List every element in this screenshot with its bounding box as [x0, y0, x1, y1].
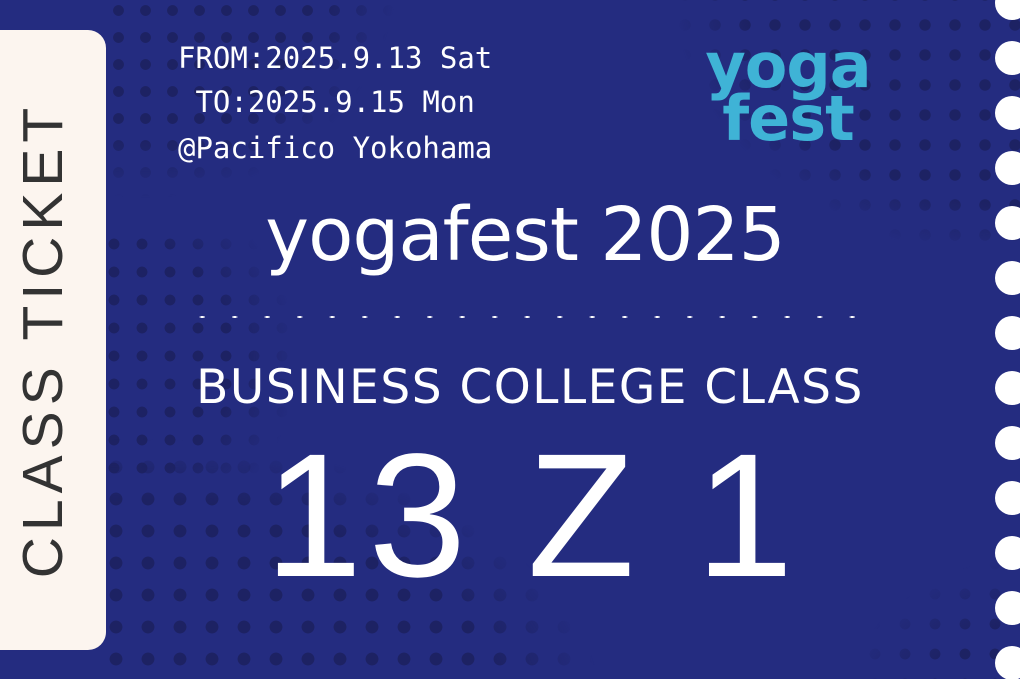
perforation-notch	[995, 646, 1020, 679]
perforation-notch	[995, 536, 1020, 570]
event-date-to: TO:2025.9.15 Mon	[178, 80, 492, 124]
perforation-notch	[995, 426, 1020, 460]
perforation-notch	[995, 371, 1020, 405]
perforation-notch	[995, 0, 1020, 20]
perforation-notch	[995, 591, 1020, 625]
event-venue: @Pacifico Yokohama	[178, 126, 492, 170]
perforation-notch	[995, 151, 1020, 185]
ticket-header: FROM:2025.9.13 Sat TO:2025.9.15 Mon @Pac…	[106, 36, 1004, 186]
event-title: yogafest 2025	[106, 192, 944, 278]
perforation-notch	[995, 96, 1020, 130]
event-details: FROM:2025.9.13 Sat TO:2025.9.15 Mon @Pac…	[178, 36, 492, 170]
perforation-notch	[995, 316, 1020, 350]
class-ticket: CLASS TICKET FROM:2025.9.13 Sat TO:2025.…	[0, 0, 1020, 679]
seat-code: 13 Z 1	[106, 424, 958, 609]
yogafest-logo: yoga fest	[698, 40, 878, 145]
perforation-notch	[995, 481, 1020, 515]
stub-label: CLASS TICKET	[10, 102, 76, 578]
perforation-notch	[995, 206, 1020, 240]
perforation-notch	[995, 41, 1020, 75]
ticket-stub: CLASS TICKET	[0, 30, 106, 650]
event-date-from: FROM:2025.9.13 Sat	[178, 36, 492, 80]
class-name: BUSINESS COLLEGE CLASS	[106, 360, 954, 415]
dotted-divider	[186, 312, 872, 322]
ticket-body: FROM:2025.9.13 Sat TO:2025.9.15 Mon @Pac…	[106, 0, 1004, 679]
logo-line-yoga: yoga	[698, 40, 878, 93]
perforation-edge	[996, 0, 1020, 679]
perforation-notch	[995, 261, 1020, 295]
